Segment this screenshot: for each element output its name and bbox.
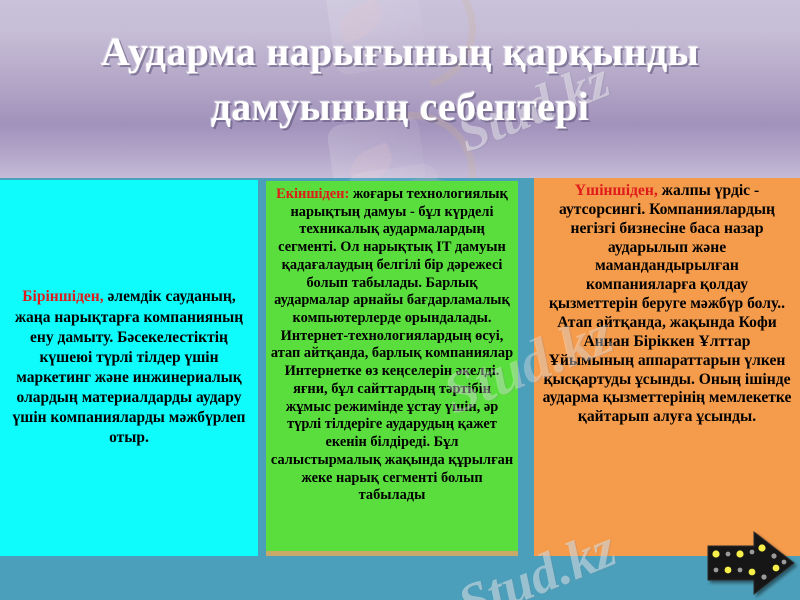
decorative-leaf-shape-2 xyxy=(344,142,398,178)
keyword-third: Үшіншіден, xyxy=(575,182,658,199)
slide-header: Stud.kz Аударма нарығының қарқынды дамуы… xyxy=(0,0,800,178)
body-text-second: жоғары технологиялық нарықтың дамуы - бұ… xyxy=(271,186,513,503)
keyword-second: Екіншіден: xyxy=(276,186,349,202)
body-text-third: жалпы үрдіс - аутсорсингі. Компанияларды… xyxy=(543,182,792,425)
slide-title: Аударма нарығының қарқынды дамуының себе… xyxy=(0,24,800,134)
content-text-third: Үшіншіден, жалпы үрдіс - аутсорсингі. Ко… xyxy=(540,182,794,427)
right-arrow-icon xyxy=(702,528,798,600)
body-text-first: әлемдік сауданың, жаңа нарықтарға компан… xyxy=(12,288,245,446)
slide-bottom-band xyxy=(0,556,800,600)
presentation-slide: Stud.kz Аударма нарығының қарқынды дамуы… xyxy=(0,0,800,600)
content-text-first: Біріншіден, әлемдік сауданың, жаңа нарық… xyxy=(6,287,252,448)
content-box-first: Біріншіден, әлемдік сауданың, жаңа нарық… xyxy=(0,180,258,556)
content-box-second: Екіншіден: жоғары технологиялық нарықтың… xyxy=(266,181,518,557)
keyword-first: Біріншіден, xyxy=(22,288,103,305)
content-text-second: Екіншіден: жоғары технологиялық нарықтың… xyxy=(270,186,514,505)
content-box-third: Үшіншіден, жалпы үрдіс - аутсорсингі. Ко… xyxy=(534,178,800,556)
